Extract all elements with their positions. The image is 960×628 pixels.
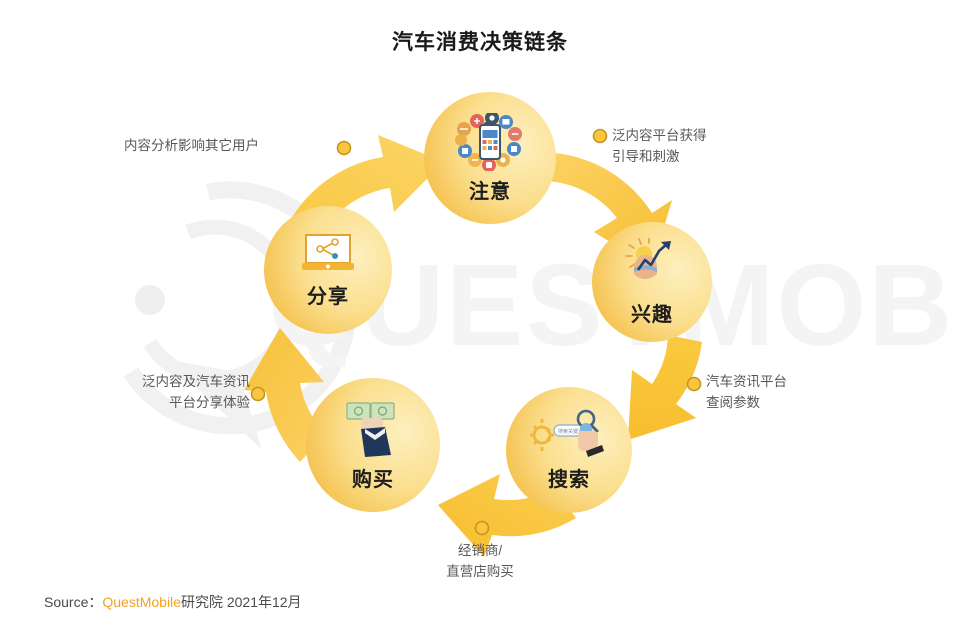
stage-label-search: 搜索 xyxy=(548,463,590,492)
source-brand: QuestMobile xyxy=(102,594,181,610)
search-hand-icon: 搜索关键词… xyxy=(530,409,608,459)
page-title: 汽车消费决策链条 xyxy=(0,26,960,56)
dot-interest xyxy=(688,378,701,391)
stage-node-interest[interactable]: 兴趣 xyxy=(592,222,712,342)
mobile-apps-icon xyxy=(454,113,526,171)
callout-search: 经销商/ 直营店购买 xyxy=(396,541,564,583)
infographic-canvas: QUESTMOBILE xyxy=(0,0,960,628)
dot-search xyxy=(476,522,489,535)
source-suffix: 研究院 2021年12月 xyxy=(181,594,302,610)
stage-node-purchase[interactable]: 购买 xyxy=(306,378,440,512)
stage-label-attention: 注意 xyxy=(469,175,511,204)
money-hand-icon xyxy=(341,399,405,459)
laptop-share-icon xyxy=(300,232,356,276)
callout-purchase: 泛内容及汽车资讯 平台分享体验 xyxy=(64,372,250,414)
callout-share: 内容分析影响其它用户 xyxy=(124,136,336,157)
stage-node-search[interactable]: 搜索关键词… 搜索 xyxy=(506,387,632,513)
callout-interest: 汽车资讯平台 查阅参数 xyxy=(706,372,916,414)
source-line: Source：QuestMobile研究院 2021年12月 xyxy=(44,592,302,612)
dot-attention xyxy=(594,130,607,143)
dot-purchase xyxy=(252,388,265,401)
stage-label-share: 分享 xyxy=(307,280,349,309)
stage-node-share[interactable]: 分享 xyxy=(264,206,392,334)
stage-label-purchase: 购买 xyxy=(352,463,394,492)
source-prefix: Source： xyxy=(44,594,102,610)
dot-share xyxy=(338,142,351,155)
stage-label-interest: 兴趣 xyxy=(631,298,673,327)
callout-attention: 泛内容平台获得 引导和刺激 xyxy=(612,126,822,168)
stage-node-attention[interactable]: 注意 xyxy=(424,92,556,224)
idea-growth-icon xyxy=(623,238,681,294)
